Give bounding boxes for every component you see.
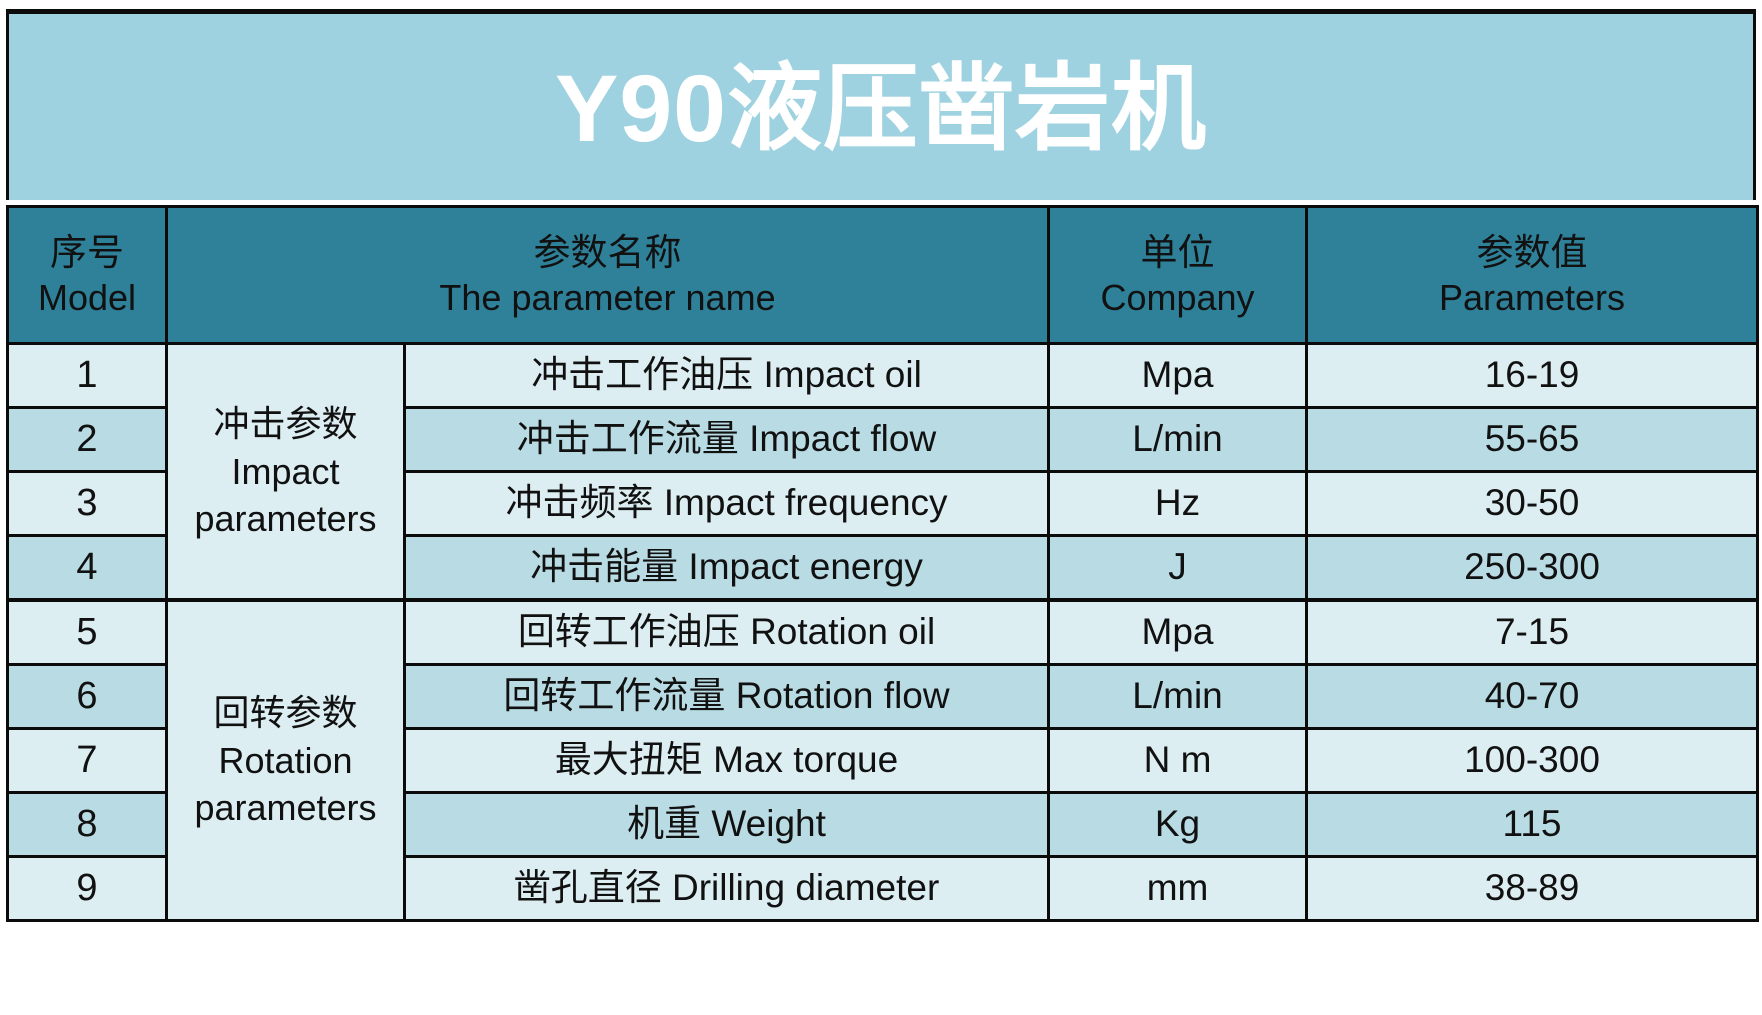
table-body: 1 冲击参数 Impact parameters 冲击工作油压 Impact o… xyxy=(8,344,1758,921)
row-parameter-name: 最大扭矩 Max torque xyxy=(405,729,1049,793)
row-number: 3 xyxy=(8,472,167,536)
header-row: 序号 Model 参数名称 The parameter name 单位 Comp… xyxy=(8,207,1758,344)
group-label-impact: 冲击参数 Impact parameters xyxy=(167,344,405,601)
row-value: 30-50 xyxy=(1307,472,1758,536)
row-unit: N m xyxy=(1049,729,1307,793)
row-parameter-name: 回转工作流量 Rotation flow xyxy=(405,665,1049,729)
row-parameter-name: 冲击频率 Impact frequency xyxy=(405,472,1049,536)
row-value: 40-70 xyxy=(1307,665,1758,729)
row-value: 38-89 xyxy=(1307,857,1758,921)
row-unit: J xyxy=(1049,536,1307,601)
row-number: 4 xyxy=(8,536,167,601)
table-row: 5 回转参数 Rotation parameters 回转工作油压 Rotati… xyxy=(8,600,1758,665)
row-unit: Hz xyxy=(1049,472,1307,536)
row-value: 7-15 xyxy=(1307,600,1758,665)
group-label-impact-en-1: Impact xyxy=(168,448,403,496)
column-header-value: 参数值 Parameters xyxy=(1307,207,1758,344)
column-header-model-cn: 序号 xyxy=(9,230,165,275)
row-unit: Mpa xyxy=(1049,344,1307,408)
group-label-rotation: 回转参数 Rotation parameters xyxy=(167,600,405,921)
column-header-value-cn: 参数值 xyxy=(1308,230,1756,275)
row-number: 1 xyxy=(8,344,167,408)
row-parameter-name: 冲击工作油压 Impact oil xyxy=(405,344,1049,408)
column-header-value-en: Parameters xyxy=(1308,276,1756,320)
column-header-unit: 单位 Company xyxy=(1049,207,1307,344)
page-title: Y90液压凿岩机 xyxy=(555,62,1207,157)
column-header-unit-cn: 单位 xyxy=(1050,230,1305,275)
column-header-model: 序号 Model xyxy=(8,207,167,344)
group-label-rotation-en-1: Rotation xyxy=(168,737,403,785)
spec-sheet-page: Y90液压凿岩机 序号 Model 参数名称 The parameter nam… xyxy=(0,0,1762,1015)
row-number: 6 xyxy=(8,665,167,729)
specification-table-wrapper: 序号 Model 参数名称 The parameter name 单位 Comp… xyxy=(6,205,1756,1005)
row-parameter-name: 凿孔直径 Drilling diameter xyxy=(405,857,1049,921)
row-unit: L/min xyxy=(1049,408,1307,472)
group-label-rotation-en-2: parameters xyxy=(168,784,403,832)
row-value: 16-19 xyxy=(1307,344,1758,408)
row-number: 5 xyxy=(8,600,167,665)
table-row: 1 冲击参数 Impact parameters 冲击工作油压 Impact o… xyxy=(8,344,1758,408)
group-label-impact-cn: 冲击参数 xyxy=(168,400,403,448)
title-banner: Y90液压凿岩机 xyxy=(6,9,1756,200)
row-parameter-name: 回转工作油压 Rotation oil xyxy=(405,600,1049,665)
specification-table: 序号 Model 参数名称 The parameter name 单位 Comp… xyxy=(6,205,1759,922)
row-parameter-name: 冲击工作流量 Impact flow xyxy=(405,408,1049,472)
row-unit: mm xyxy=(1049,857,1307,921)
column-header-parameter-name: 参数名称 The parameter name xyxy=(167,207,1049,344)
row-value: 115 xyxy=(1307,793,1758,857)
group-label-impact-en-2: parameters xyxy=(168,495,403,543)
group-label-rotation-cn: 回转参数 xyxy=(168,689,403,737)
row-value: 55-65 xyxy=(1307,408,1758,472)
column-header-parameter-name-en: The parameter name xyxy=(168,276,1047,320)
row-parameter-name: 冲击能量 Impact energy xyxy=(405,536,1049,601)
table-header: 序号 Model 参数名称 The parameter name 单位 Comp… xyxy=(8,207,1758,344)
column-header-model-en: Model xyxy=(9,276,165,320)
row-number: 2 xyxy=(8,408,167,472)
column-header-unit-en: Company xyxy=(1050,276,1305,320)
row-number: 9 xyxy=(8,857,167,921)
row-unit: Kg xyxy=(1049,793,1307,857)
row-parameter-name: 机重 Weight xyxy=(405,793,1049,857)
row-value: 250-300 xyxy=(1307,536,1758,601)
row-number: 7 xyxy=(8,729,167,793)
row-unit: L/min xyxy=(1049,665,1307,729)
row-number: 8 xyxy=(8,793,167,857)
column-header-parameter-name-cn: 参数名称 xyxy=(168,230,1047,275)
row-value: 100-300 xyxy=(1307,729,1758,793)
row-unit: Mpa xyxy=(1049,600,1307,665)
